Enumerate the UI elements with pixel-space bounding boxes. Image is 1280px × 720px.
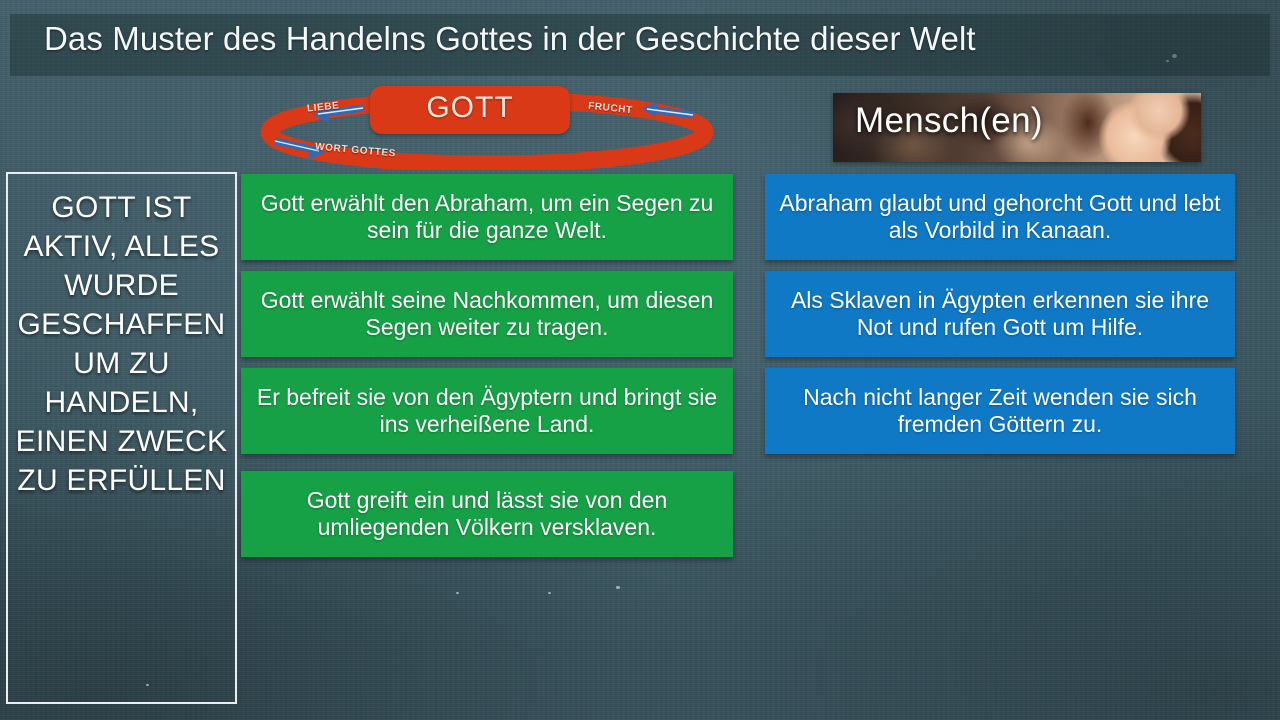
gott-label: GOTT — [370, 91, 570, 125]
gott-cycle-diagram: GOTT LIEBE WORT GOTTES FRUCHT — [255, 84, 725, 170]
god-statement-box: Er befreit sie von den Ägyptern und brin… — [241, 368, 733, 454]
left-panel-text: GOTT IST AKTIV, ALLES WURDE GESCHAFFEN U… — [8, 188, 235, 500]
background-speck — [456, 592, 459, 594]
mensch-label: Mensch(en) — [855, 101, 1043, 141]
people-statement-box: Abraham glaubt und gehorcht Gott und leb… — [765, 174, 1235, 260]
background-speck — [616, 586, 620, 589]
left-statement-panel: GOTT IST AKTIV, ALLES WURDE GESCHAFFEN U… — [6, 172, 237, 704]
background-speck — [548, 592, 551, 594]
page-title: Das Muster des Handelns Gottes in der Ge… — [44, 20, 1164, 58]
people-statement-box: Nach nicht langer Zeit wenden sie sich f… — [765, 368, 1235, 454]
god-statement-box: Gott erwählt seine Nachkommen, um diesen… — [241, 271, 733, 357]
mensch-header-card: Mensch(en) — [833, 93, 1201, 162]
gott-center-box: GOTT — [370, 86, 570, 134]
god-statement-box: Gott greift ein und lässt sie von den um… — [241, 471, 733, 557]
people-statement-box: Als Sklaven in Ägypten erkennen sie ihre… — [765, 271, 1235, 357]
god-statement-box: Gott erwählt den Abraham, um ein Segen z… — [241, 174, 733, 260]
